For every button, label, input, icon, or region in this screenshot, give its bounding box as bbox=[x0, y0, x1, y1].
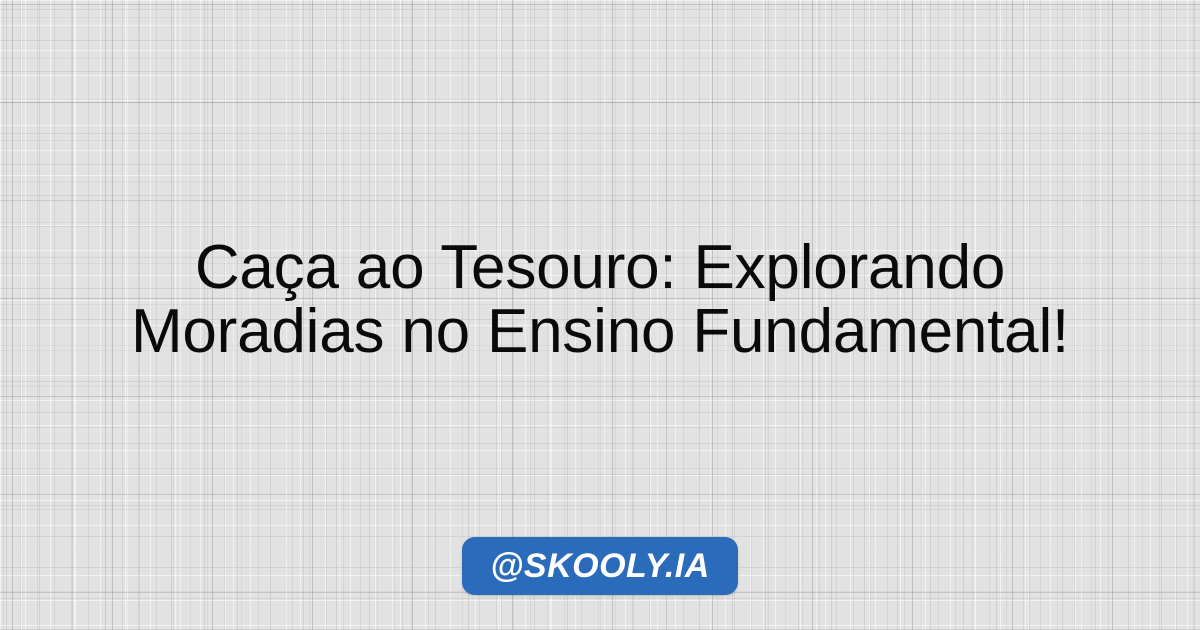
page-title: Caça ao Tesouro: Explorando Moradias no … bbox=[40, 236, 1160, 364]
handle-badge-container: @SKOOLY.IA bbox=[0, 537, 1200, 595]
page-title-line-2: Moradias no Ensino Fundamental! bbox=[40, 300, 1160, 364]
page-title-line-1: Caça ao Tesouro: Explorando bbox=[40, 236, 1160, 300]
handle-badge[interactable]: @SKOOLY.IA bbox=[462, 537, 738, 595]
poster-canvas: Caça ao Tesouro: Explorando Moradias no … bbox=[0, 0, 1200, 630]
